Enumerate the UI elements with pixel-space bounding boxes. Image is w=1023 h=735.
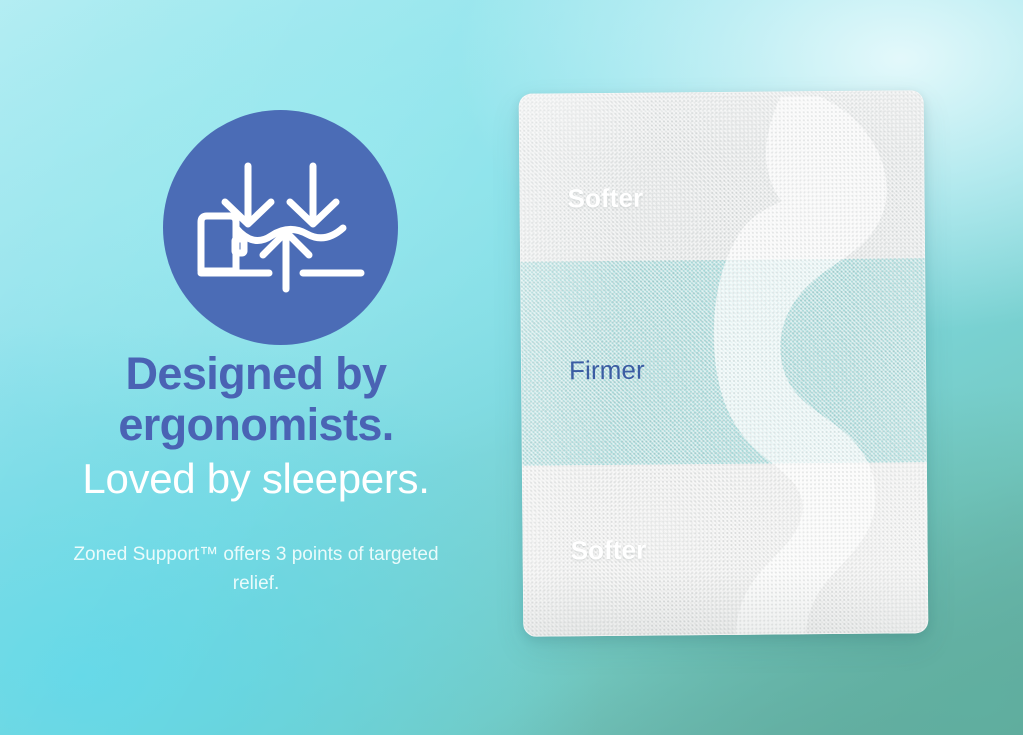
zoned-support-mattress: Softer Firmer Softer [519, 90, 929, 637]
pressure-relief-icon-badge [163, 110, 398, 345]
zone-label-firmer: Firmer [569, 355, 645, 387]
pressure-relief-icon [191, 160, 371, 295]
mattress-illustration: Softer Firmer Softer [521, 92, 926, 635]
headline-line-3: Loved by sleepers. [0, 455, 512, 503]
mattress-zone-soft-top [519, 90, 925, 262]
subtitle: Zoned Support™ offers 3 points of target… [56, 540, 456, 599]
promo-banner: Designed by ergonomists. Loved by sleepe… [0, 0, 1023, 735]
headline-line-2: ergonomists. [0, 399, 512, 450]
headline: Designed by ergonomists. Loved by sleepe… [0, 348, 512, 502]
headline-line-1: Designed by [0, 348, 512, 399]
left-content-column: Designed by ergonomists. Loved by sleepe… [0, 0, 512, 735]
zone-label-softer-bottom: Softer [570, 535, 646, 567]
zone-label-softer-top: Softer [567, 183, 643, 215]
